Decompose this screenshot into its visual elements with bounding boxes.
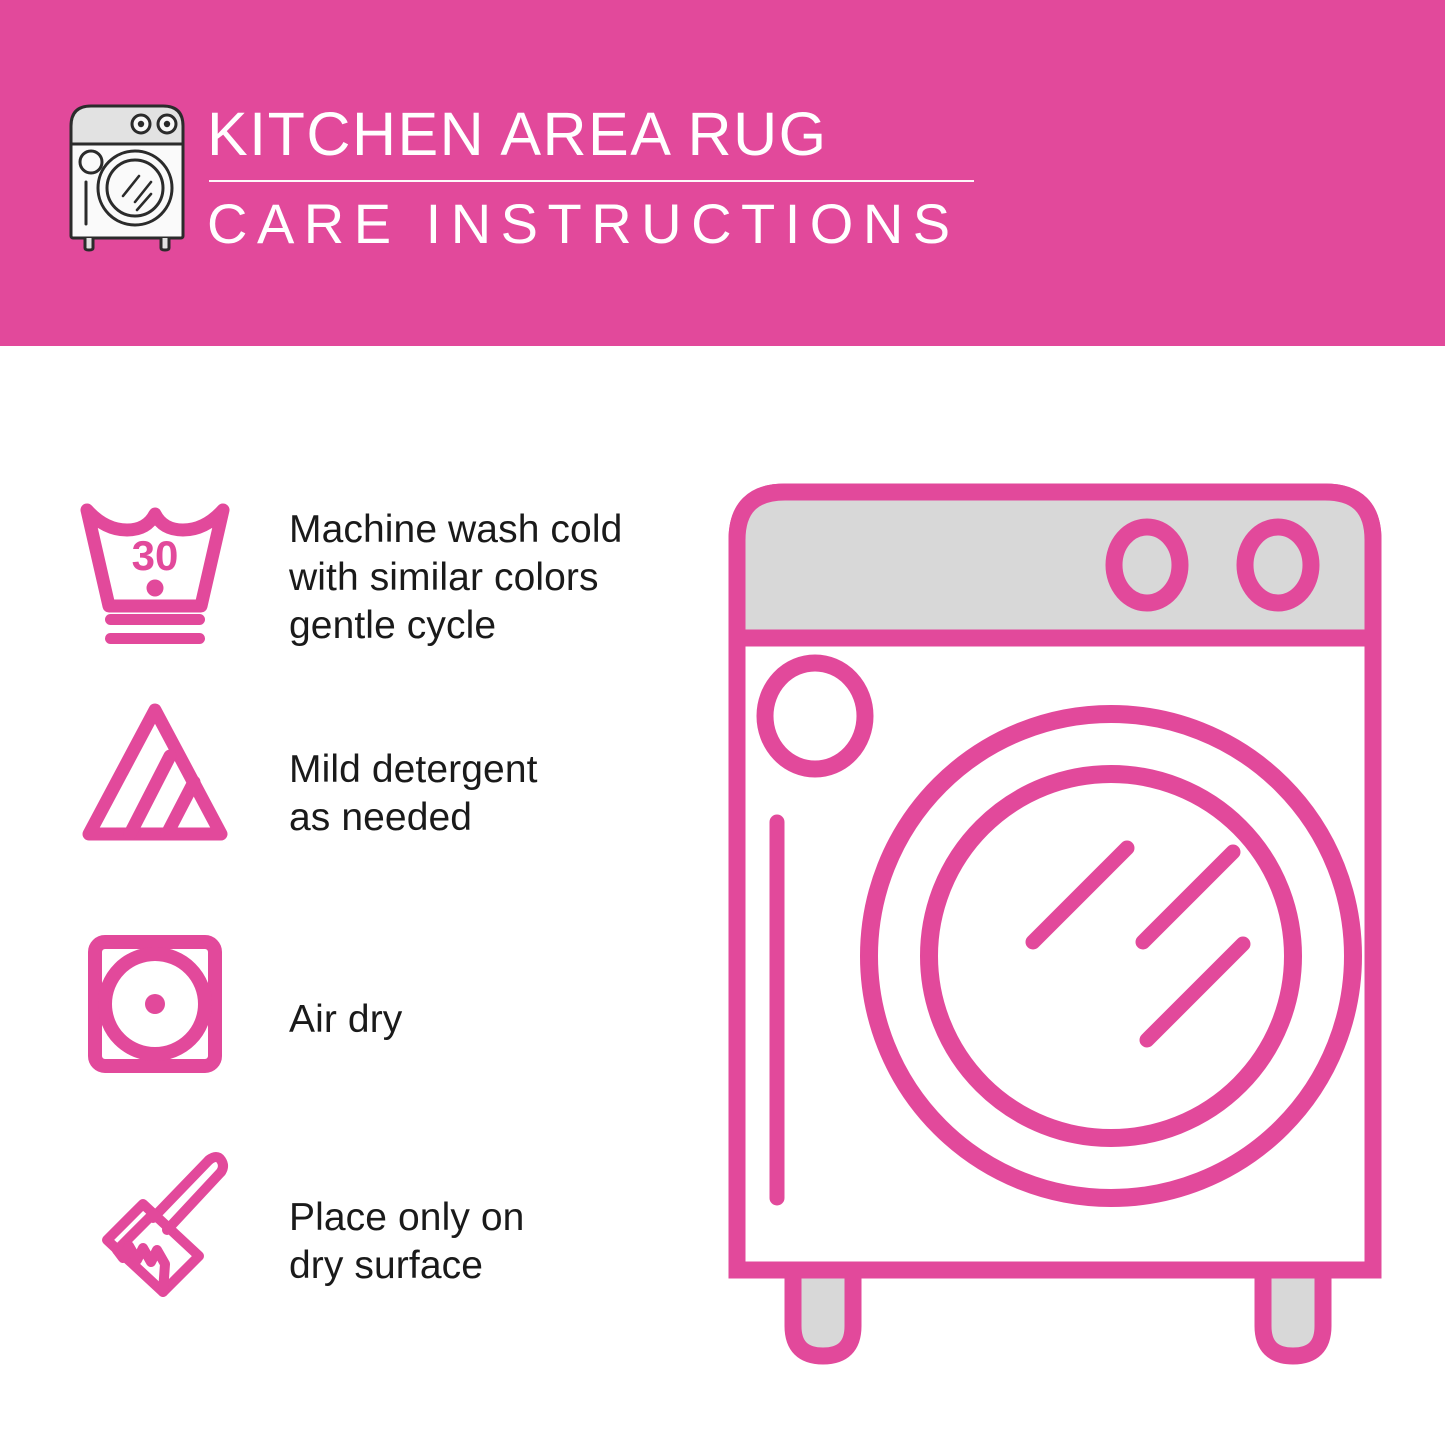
wash-tub-30-icon: 30 <box>75 488 235 648</box>
tumble-dry-square-icon <box>75 924 235 1084</box>
care-instruction-label: Place only on dry surface <box>289 1194 524 1290</box>
header-band: KITCHEN AREA RUG CARE INSTRUCTIONS <box>0 0 1445 346</box>
triangle-bleach-icon <box>75 694 235 854</box>
header-text-block: KITCHEN AREA RUG CARE INSTRUCTIONS <box>207 96 997 260</box>
care-instruction-label: Machine wash cold with similar colors ge… <box>289 506 622 650</box>
brush-icon <box>75 1144 235 1304</box>
header-divider <box>209 180 974 182</box>
leg-right <box>1263 1270 1323 1356</box>
care-instruction-list: 30 Machine wash cold with similar colors… <box>0 346 660 1445</box>
washing-machine-illustration <box>715 470 1395 1380</box>
gentle-cycle-dot <box>147 580 164 597</box>
page-subtitle: CARE INSTRUCTIONS <box>207 188 997 260</box>
washing-machine-logo-icon <box>63 100 191 252</box>
control-panel <box>737 492 1373 638</box>
care-instruction-label: Air dry <box>289 996 402 1044</box>
leg-left <box>793 1270 853 1356</box>
care-instructions-page: KITCHEN AREA RUG CARE INSTRUCTIONS 30 Ma… <box>0 0 1445 1445</box>
page-title: KITCHEN AREA RUG <box>207 96 997 172</box>
care-instruction-label: Mild detergent as needed <box>289 746 538 842</box>
wash-temperature-value: 30 <box>132 532 179 579</box>
dry-dot <box>145 994 165 1014</box>
